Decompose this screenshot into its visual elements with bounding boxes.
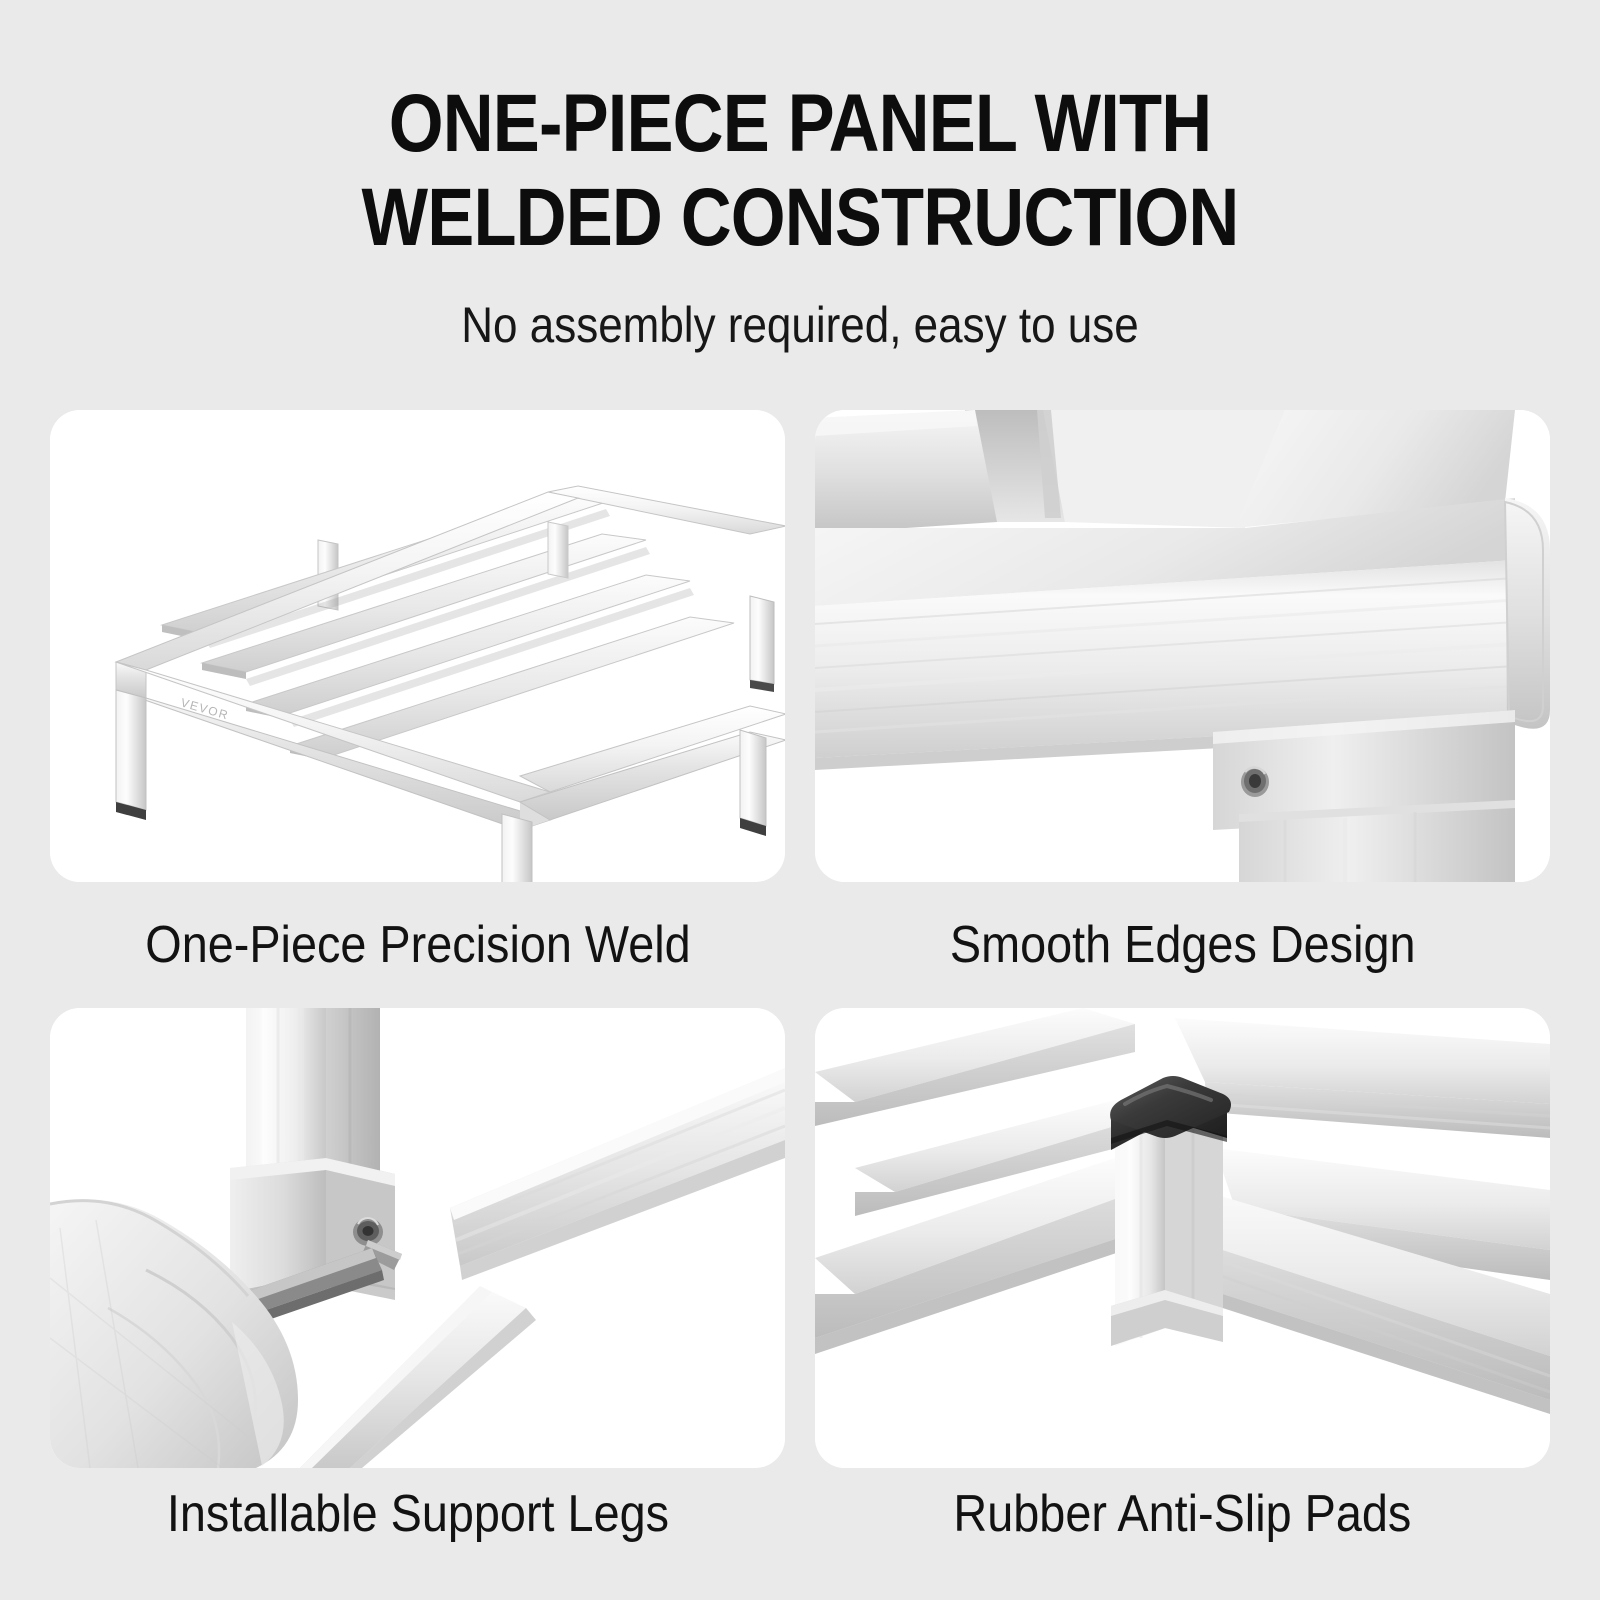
page-title-line-1: ONE-PIECE PANEL WITH bbox=[112, 78, 1488, 170]
rack-leg-far-right bbox=[740, 730, 766, 836]
smooth-edge-closeup-illustration bbox=[815, 410, 1550, 882]
product-photo-leg-install bbox=[50, 1008, 785, 1468]
support-leg-shaft bbox=[1239, 800, 1515, 882]
hex-screw-icon bbox=[1241, 767, 1269, 797]
rack-leg-front-left bbox=[116, 690, 146, 820]
feature-card-smooth-edges-design: Smooth Edges Design bbox=[815, 410, 1550, 1008]
rubber-foot-corner-illustration bbox=[815, 1008, 1550, 1468]
rack-leg-rear-right bbox=[750, 596, 774, 692]
feature-caption-one-piece-precision-weld: One-Piece Precision Weld bbox=[50, 882, 785, 1008]
feature-caption-rubber-anti-slip-pads: Rubber Anti-Slip Pads bbox=[815, 1468, 1550, 1560]
product-photo-rubber-foot bbox=[815, 1008, 1550, 1468]
feature-card-one-piece-precision-weld: VEVOR One-Piece Precision Weld bbox=[50, 410, 785, 1008]
feature-card-rubber-anti-slip-pads: Rubber Anti-Slip Pads bbox=[815, 1008, 1550, 1560]
header: ONE-PIECE PANEL WITH WELDED CONSTRUCTION… bbox=[0, 0, 1600, 354]
rack-leg-front-center bbox=[502, 814, 532, 882]
feature-grid: VEVOR One-Piece Precision Weld bbox=[50, 410, 1550, 1560]
dunnage-rack-illustration: VEVOR bbox=[50, 410, 785, 882]
feature-caption-installable-support-legs: Installable Support Legs bbox=[50, 1468, 785, 1560]
feature-card-installable-support-legs: Installable Support Legs bbox=[50, 1008, 785, 1560]
page-subtitle: No assembly required, easy to use bbox=[96, 296, 1504, 354]
leg-install-illustration bbox=[50, 1008, 785, 1468]
page-title-line-2: WELDED CONSTRUCTION bbox=[112, 172, 1488, 264]
rack-center-brace bbox=[548, 522, 568, 578]
product-photo-smooth-edge bbox=[815, 410, 1550, 882]
product-photo-full-rack: VEVOR bbox=[50, 410, 785, 882]
feature-caption-smooth-edges-design: Smooth Edges Design bbox=[815, 882, 1550, 1008]
